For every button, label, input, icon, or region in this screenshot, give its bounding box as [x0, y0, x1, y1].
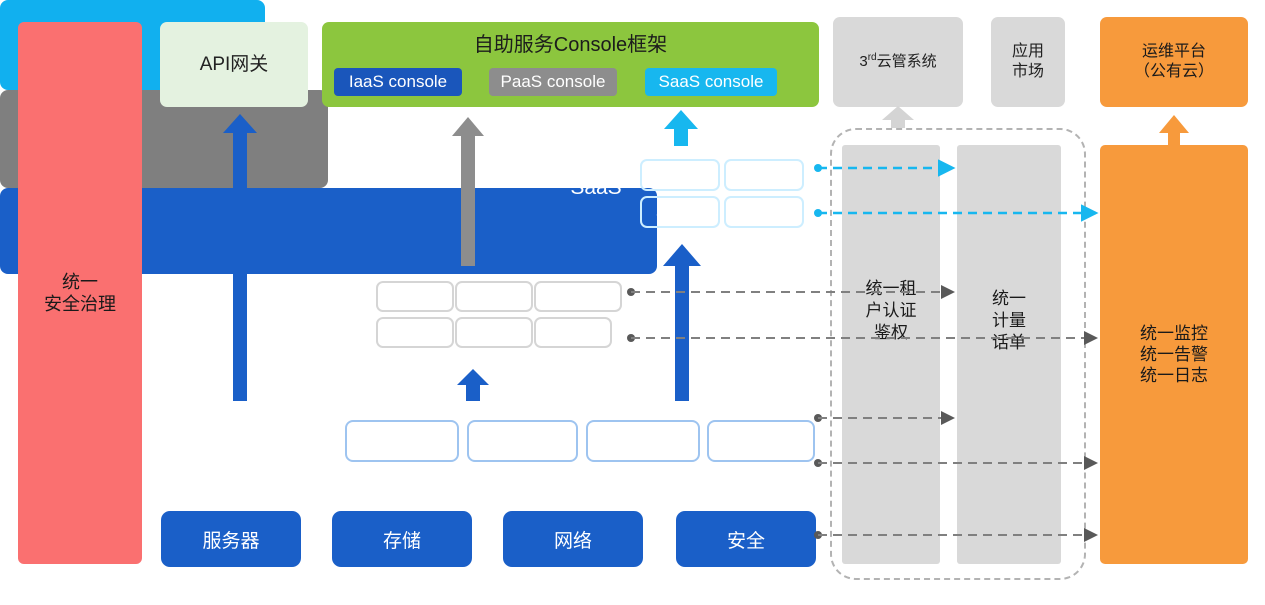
paas-tag-database[interactable]: 数据库	[376, 317, 454, 348]
arrow-infra-to-saas	[663, 244, 701, 401]
arrow-ops-bar-to-platform	[1159, 115, 1189, 145]
resource-box-server[interactable]: 服务器	[161, 511, 301, 567]
third-party-cloud-management-box: 3rd云管系统	[833, 17, 963, 107]
paas-console-button[interactable]: PaaS console	[489, 68, 617, 96]
unified-auth-column	[842, 145, 940, 564]
paas-tag-modelarts[interactable]: ModelArts	[534, 281, 622, 312]
ops-platform-box: 运维平台 （公有云）	[1100, 17, 1248, 107]
paas-layer-label: PaaS	[312, 302, 384, 328]
infra-tag-cce[interactable]: CCE	[707, 420, 815, 462]
saas-console-button[interactable]: SaaS console	[645, 68, 777, 96]
paas-tag-bigdata[interactable]: 大数据	[534, 317, 612, 348]
third-party-label: 3rd云管系统	[859, 52, 936, 72]
third-party-superscript: rd	[868, 52, 877, 63]
architecture-diagram: 统一 安全治理 API网关 自助服务Console框架 IaaS console…	[0, 0, 1265, 605]
arrow-saas-to-console	[664, 110, 698, 146]
infra-tag-storage[interactable]: Storage	[467, 420, 578, 462]
unified-monitoring-bar: 统一监控 统一告警 统一日志	[1100, 145, 1248, 564]
app-market-box: 应用 市场	[991, 17, 1065, 107]
unified-auth-label: 统一租 户认证 鉴权	[842, 278, 940, 344]
paas-tag-dgc[interactable]: DGC	[455, 281, 533, 312]
saas-tag-video-cloud[interactable]: 视频云	[640, 196, 720, 228]
infra-tag-network[interactable]: Network	[586, 420, 700, 462]
unified-security-governance-bar: 统一 安全治理	[18, 22, 142, 564]
unified-metering-label: 统一 计量 话单	[957, 288, 1061, 354]
resource-box-storage[interactable]: 存储	[332, 511, 472, 567]
paas-tag-roma[interactable]: ROMA	[376, 281, 454, 312]
arrow-infra-to-paas	[457, 369, 489, 401]
saas-tag-blockchain[interactable]: 区块链	[640, 159, 720, 191]
arrow-zone-to-third-cloud	[882, 106, 914, 128]
saas-layer-label: SaaS	[562, 176, 630, 200]
unified-metering-column	[957, 145, 1061, 564]
resource-box-network[interactable]: 网络	[503, 511, 643, 567]
paas-tag-cache[interactable]: 缓存	[455, 317, 533, 348]
unified-infrastructure-label: 统一基础设施服务	[173, 425, 338, 452]
saas-tag-iot[interactable]: IoT	[724, 159, 804, 191]
saas-tag-desktop-cloud[interactable]: 桌面云	[724, 196, 804, 228]
console-frame-title: 自助服务Console框架	[322, 29, 819, 55]
iaas-console-button[interactable]: IaaS console	[334, 68, 462, 96]
resource-box-security[interactable]: 安全	[676, 511, 816, 567]
api-gateway-box: API网关	[160, 22, 308, 107]
infra-tag-compute[interactable]: Compute	[345, 420, 459, 462]
